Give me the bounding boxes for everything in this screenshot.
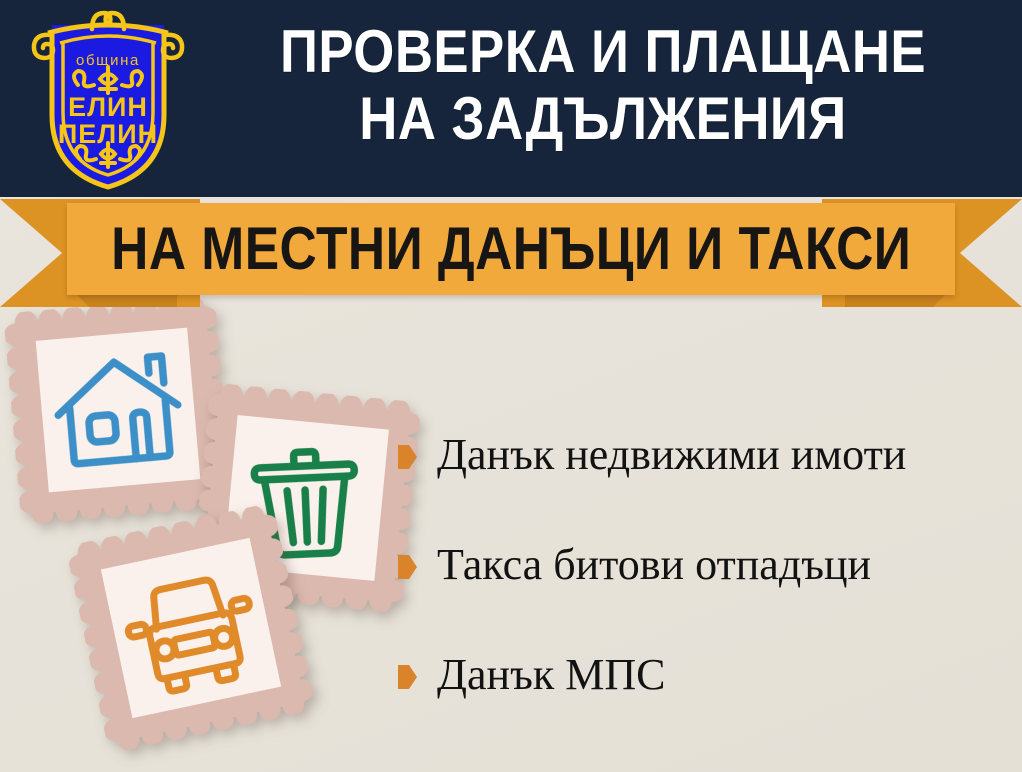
house-stamp-svg: [3, 295, 233, 525]
car-stamp-svg: [65, 502, 316, 753]
subtitle-ribbon: НА МЕСТНИ ДАНЪЦИ И ТАКСИ: [0, 199, 1022, 307]
stamp-card-vehicle: [65, 502, 316, 753]
page-title-line2: НА ЗАДЪЛЖЕНИЯ: [247, 85, 960, 152]
list-item-label: Такса битови отпадъци: [437, 543, 871, 587]
list-item[interactable]: Такса битови отпадъци: [398, 534, 1008, 596]
header-bar: община ЕЛИН ПЕЛИН: [0, 0, 1022, 197]
page-title-line1: ПРОВЕРКА И ПЛАЩАНЕ: [280, 18, 926, 85]
ribbon-band: НА МЕСТНИ ДАНЪЦИ И ТАКСИ: [67, 203, 955, 295]
list-item[interactable]: Данък недвижими имоти: [398, 424, 1008, 486]
stamp-card-group: [0, 300, 420, 772]
poster-canvas: община ЕЛИН ПЕЛИН: [0, 0, 1022, 772]
crest-icon: община ЕЛИН ПЕЛИН: [18, 3, 198, 193]
tax-type-list: Данък недвижими имоти Такса битови отпад…: [398, 424, 1008, 706]
crest-name-line1: ЕЛИН: [68, 92, 148, 122]
municipality-crest: община ЕЛИН ПЕЛИН: [18, 3, 198, 193]
arrow-bullet-icon: [398, 555, 417, 579]
ribbon-label: НА МЕСТНИ ДАНЪЦИ И ТАКСИ: [111, 219, 911, 279]
list-item-label: Данък МПС: [437, 653, 665, 697]
stamp-card-property: [3, 295, 233, 525]
arrow-bullet-icon: [398, 665, 417, 689]
page-title: ПРОВЕРКА И ПЛАЩАНЕ НА ЗАДЪЛЖЕНИЯ: [247, 18, 960, 152]
arrow-bullet-icon: [398, 445, 417, 469]
list-item-label: Данък недвижими имоти: [437, 433, 906, 477]
list-item[interactable]: Данък МПС: [398, 644, 1008, 706]
